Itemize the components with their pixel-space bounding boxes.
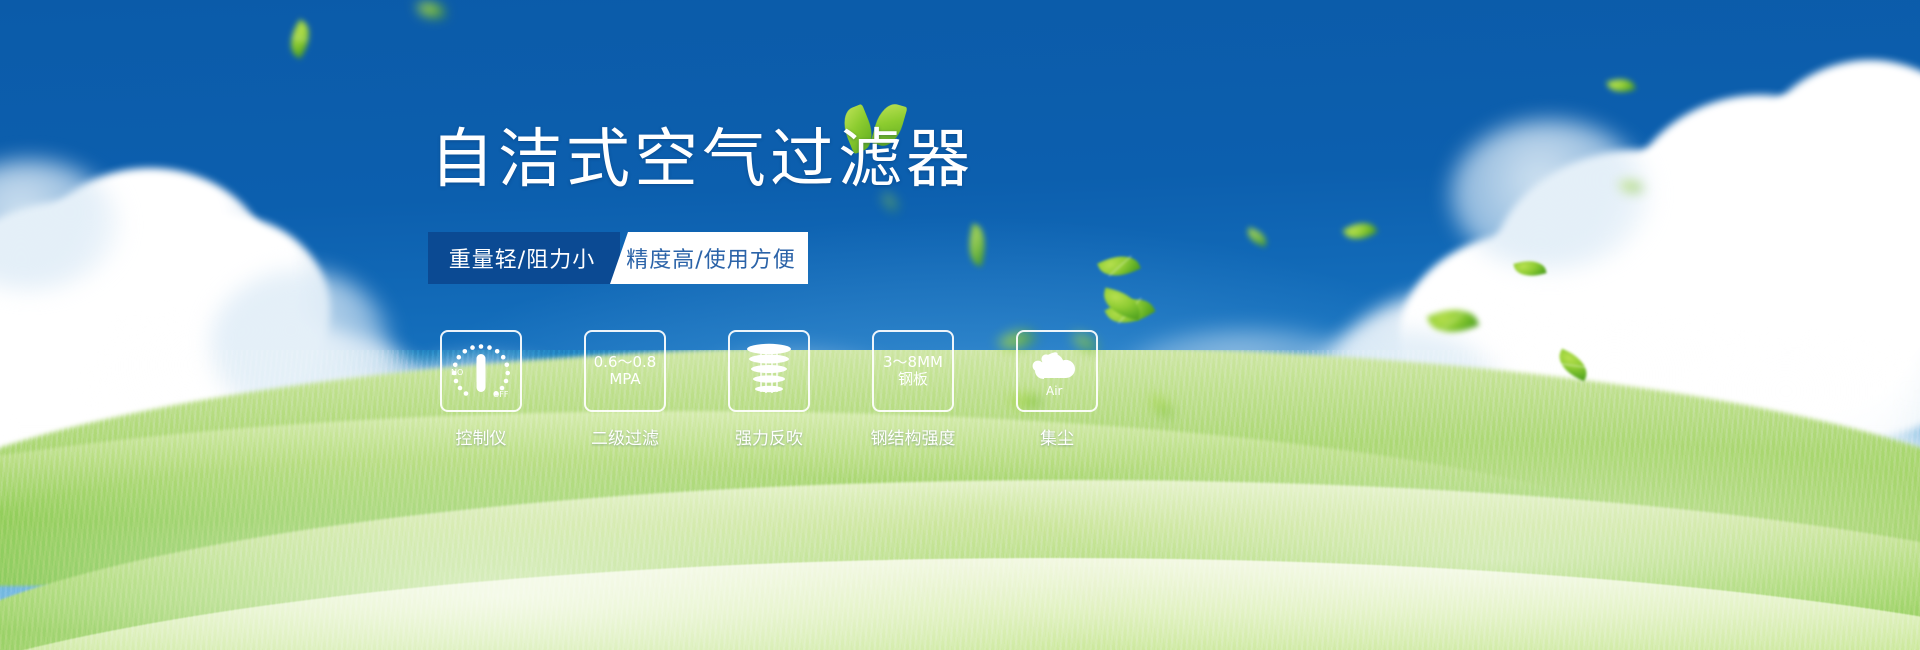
steel-value-line-2: 钢板 [898,371,928,388]
dial-off-label: OFF [493,390,509,399]
feature-label: 集尘 [1040,424,1074,449]
feature-item: 3～8MM 钢板 钢结构强度 [872,330,954,449]
feature-icon-row: NO OFF 控制仪 0.6～0.8 MPA 二级过滤 [440,330,1098,449]
tagline-badge-secondary: 精度高/使用方便 [610,232,808,284]
filter-cartridge-icon [728,330,810,412]
steel-value-line-1: 3～8MM [883,354,943,371]
feature-item: Air 集尘 [1016,330,1098,449]
steel-plate-text-icon: 3～8MM 钢板 [872,330,954,412]
tagline-badge-primary: 重量轻/阻力小 [428,232,620,284]
banner-content: 自洁式空气过滤器 重量轻/阻力小 精度高/使用方便 [0,0,1920,650]
hero-banner: 自洁式空气过滤器 重量轻/阻力小 精度高/使用方便 [0,0,1920,650]
pressure-text-icon: 0.6～0.8 MPA [584,330,666,412]
feature-label: 钢结构强度 [871,424,956,449]
page-title: 自洁式空气过滤器 [430,128,974,192]
feature-label: 强力反吹 [735,424,803,449]
feature-label: 控制仪 [456,424,507,449]
feature-item: 强力反吹 [728,330,810,449]
feature-item: 0.6～0.8 MPA 二级过滤 [584,330,666,449]
pressure-value-line-1: 0.6～0.8 [594,354,657,371]
tagline-badges: 重量轻/阻力小 精度高/使用方便 [428,232,808,284]
feature-label: 二级过滤 [591,424,659,449]
feature-item: NO OFF 控制仪 [440,330,522,449]
air-label: Air [1046,384,1063,398]
control-dial-icon: NO OFF [440,330,522,412]
air-cloud-icon: Air [1016,330,1098,412]
dial-on-label: NO [451,368,463,377]
pressure-value-line-2: MPA [609,371,640,388]
